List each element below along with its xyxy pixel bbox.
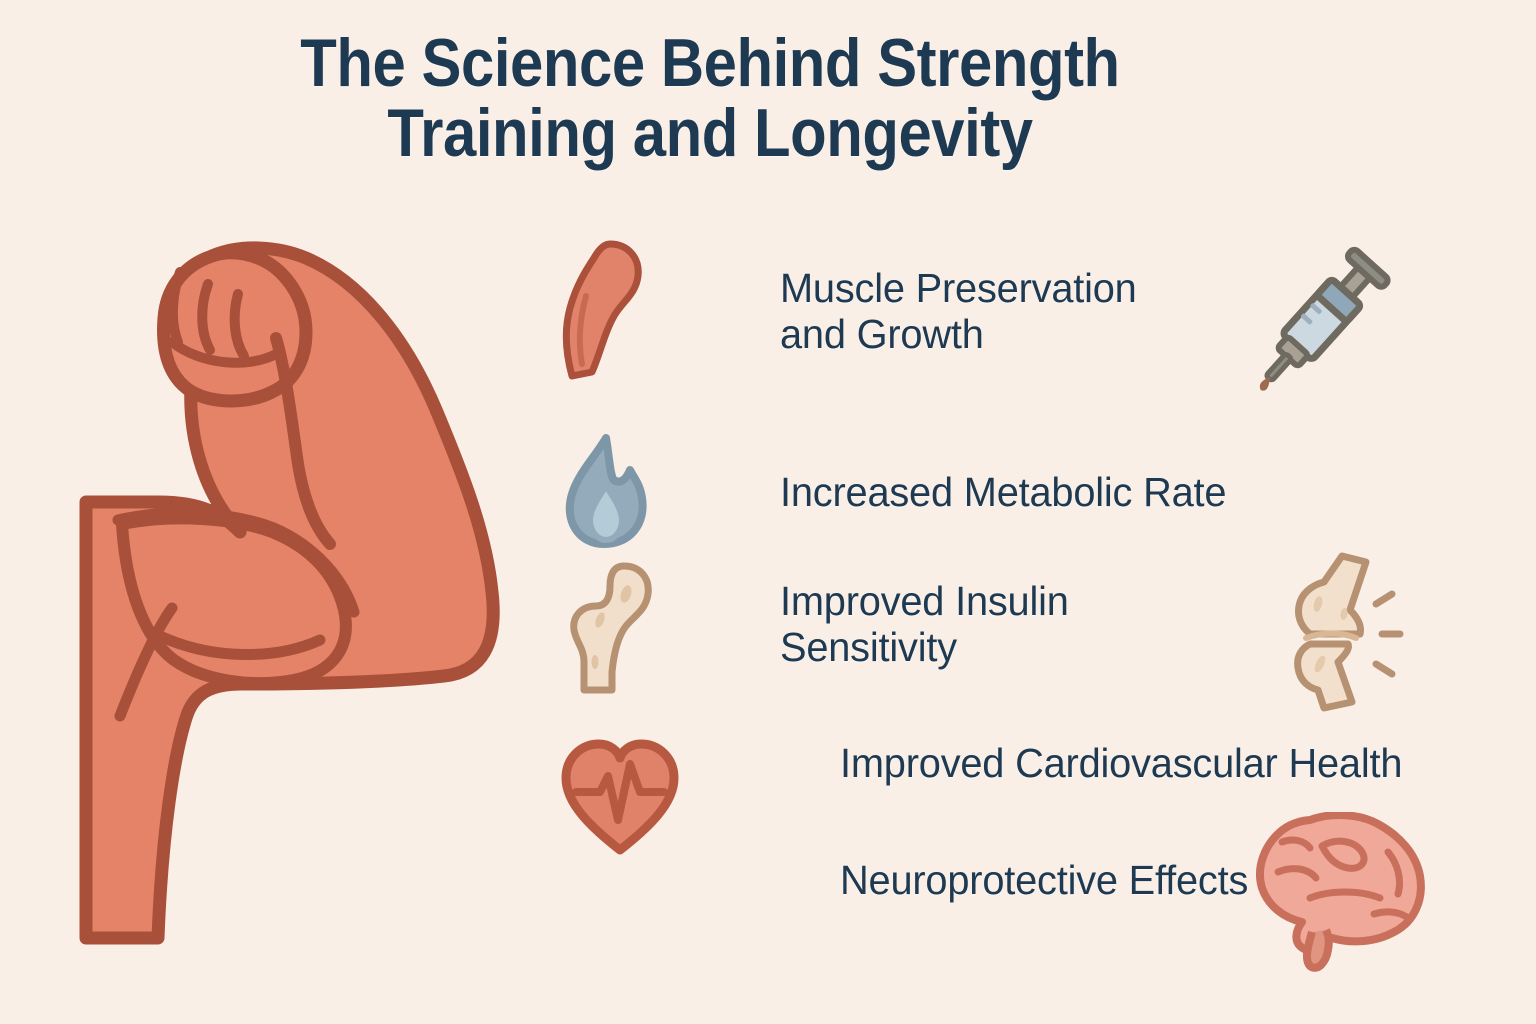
- list-item[interactable]: Muscle Preservation and Growth: [556, 236, 1148, 386]
- list-item-label: Improved Cardiovascular Health: [840, 740, 1402, 786]
- syringe-icon: [1244, 244, 1394, 404]
- knee-joint-icon: [1266, 552, 1426, 712]
- list-item-label: Neuroprotective Effects: [840, 857, 1248, 903]
- flame-icon: [556, 432, 652, 552]
- list-item-label: Muscle Preservation and Growth: [780, 265, 1137, 358]
- muscle-fiber-icon: [556, 236, 652, 386]
- page-title: The Science Behind Strength Training and…: [85, 28, 1335, 168]
- infographic-poster: The Science Behind Strength Training and…: [0, 0, 1536, 1024]
- list-item-label: Increased Metabolic Rate: [780, 469, 1226, 515]
- list-item[interactable]: Improved Insulin Sensitivity: [562, 554, 1078, 694]
- brain-icon: [1248, 812, 1438, 972]
- flexed-bicep-illustration: [62, 232, 542, 952]
- list-item-spacer: [556, 836, 684, 916]
- list-item[interactable]: Neuroprotective Effects: [556, 836, 1261, 916]
- bone-icon: [562, 554, 658, 694]
- list-item-label: Improved Insulin Sensitivity: [780, 578, 1069, 671]
- list-item[interactable]: Increased Metabolic Rate: [556, 432, 1240, 552]
